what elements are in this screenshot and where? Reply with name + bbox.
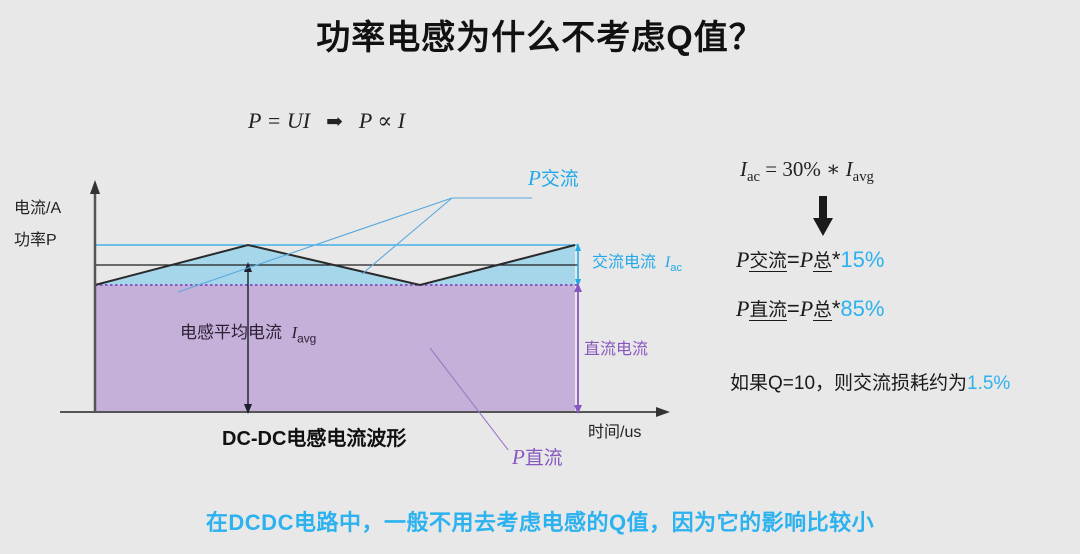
iac-definition-formula: Iac = 30% ∗ Iavg — [740, 157, 874, 186]
ptotal-sub-label: 总 — [813, 250, 832, 272]
q-factor-note-text: 如果Q=10，则交流损耗约为 — [730, 373, 967, 394]
pdc-p-symbol: P — [736, 296, 749, 321]
x-axis-label-time: 时间/us — [588, 418, 641, 442]
i-avg-text: 电感平均电流 — [180, 323, 282, 342]
pac-p-symbol: P — [736, 247, 749, 272]
pdc-equals: = — [787, 296, 800, 321]
i-avg-subscript: avg — [297, 331, 316, 345]
x-axis-arrow-icon — [656, 407, 670, 417]
p-ac-leader-line-2 — [362, 198, 452, 274]
p-dc-subscript: 直流 — [525, 448, 563, 469]
power-formula-left: P = UI — [248, 108, 310, 133]
pac-sub-label: 交流 — [749, 250, 786, 272]
iac-subscript: ac — [747, 169, 760, 185]
pdc-value: 85% — [840, 296, 884, 321]
y-axis-label-current: 电流/A — [14, 194, 61, 218]
chart-caption: DC-DC电感电流波形 — [222, 422, 406, 451]
dc-current-region — [95, 285, 575, 412]
p-dc-percentage-formula: P直流=P总*85% — [736, 295, 884, 322]
pac-value: 15% — [840, 247, 884, 272]
pac-equals: = — [787, 247, 800, 272]
right-panel: Iac = 30% ∗ Iavg P交流=P总*15% P直流=P总*85% 如… — [700, 150, 1080, 420]
q-factor-note-value: 1.5% — [967, 373, 1010, 394]
iac-symbol: I — [740, 157, 747, 181]
p-ac-subscript: 交流 — [541, 169, 579, 190]
iavg-subscript: avg — [853, 169, 874, 185]
i-ac-subscript: ac — [670, 262, 682, 274]
iac-equals: = 30% ∗ — [760, 157, 846, 181]
y-axis-arrow-icon — [90, 180, 100, 194]
conclusion-text: 在DCDC电路中，一般不用去考虑电感的Q值，因为它的影响比较小 — [0, 505, 1080, 537]
y-axis-label-power: 功率P — [14, 226, 57, 250]
down-arrow-icon — [812, 196, 834, 238]
ptotal2-p-symbol: P — [800, 296, 813, 321]
power-formula-right: P ∝ I — [359, 108, 405, 133]
p-dc-label: P直流 — [512, 443, 563, 470]
waveform-svg — [0, 150, 700, 450]
i-avg-label: 电感平均电流 Iavg — [180, 318, 316, 345]
waveform-chart: 电流/A 功率P 时间/us DC-DC电感电流波形 P交流 交流电流 Iac … — [0, 150, 700, 450]
ptotal2-sub-label: 总 — [813, 299, 832, 321]
right-arrow-icon: ➡ — [326, 109, 343, 134]
p-dc-symbol: P — [512, 445, 525, 469]
p-ac-percentage-formula: P交流=P总*15% — [736, 246, 884, 273]
q-factor-note: 如果Q=10，则交流损耗约为1.5% — [730, 368, 1010, 395]
iavg-symbol: I — [846, 157, 853, 181]
power-formula: P = UI➡P ∝ I — [248, 108, 405, 134]
page-title: 功率电感为什么不考虑Q值？ — [0, 10, 1080, 59]
pdc-sub-label: 直流 — [749, 299, 786, 321]
p-ac-symbol: P — [528, 166, 541, 190]
i-dc-label: 直流电流 — [584, 335, 648, 359]
i-ac-label: 交流电流 Iac — [592, 248, 682, 274]
i-ac-text: 交流电流 — [592, 254, 656, 271]
i-ac-arrow-up-icon — [575, 243, 581, 251]
slide-root: 功率电感为什么不考虑Q值？ P = UI➡P ∝ I — [0, 0, 1080, 554]
p-ac-label: P交流 — [528, 164, 579, 191]
ptotal-p-symbol: P — [800, 247, 813, 272]
